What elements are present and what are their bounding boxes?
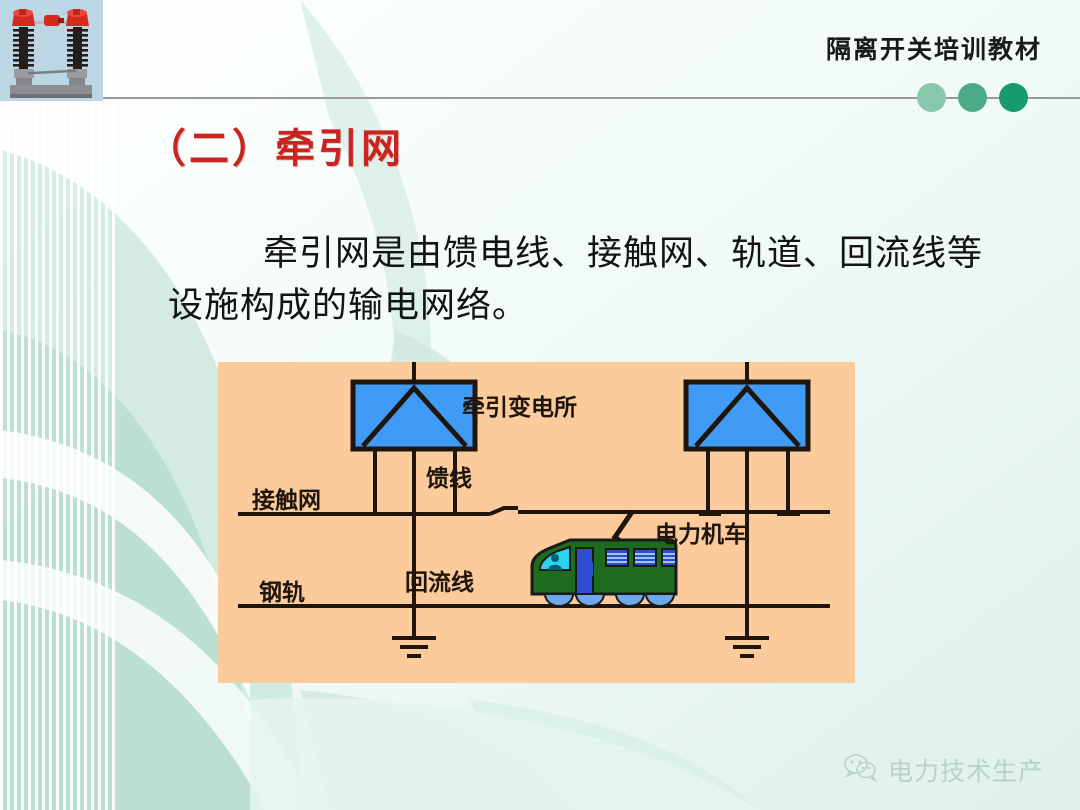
- substation-right: [686, 382, 808, 449]
- label-feeder: 馈线: [426, 465, 472, 491]
- dot-dark: [999, 83, 1028, 112]
- header-dots: [917, 83, 1028, 112]
- substation-left: [353, 382, 475, 449]
- dot-light: [917, 83, 946, 112]
- watermark-text: 电力技术生产: [888, 752, 1044, 788]
- electric-locomotive: [532, 540, 676, 606]
- disconnector-thumbnail: [0, 0, 103, 101]
- wechat-icon: [844, 754, 878, 787]
- label-substation: 牵引变电所: [462, 394, 577, 420]
- label-rail: 钢轨: [259, 579, 305, 605]
- left-stripe-decoration: [0, 100, 118, 810]
- label-return-line: 回流线: [405, 569, 474, 595]
- header-title: 隔离开关培训教材: [826, 30, 1042, 66]
- slide-canvas: 隔离开关培训教材 （二）牵引网 牵引网是由馈电线、接触网、轨道、回流线等设施构成…: [0, 0, 1080, 810]
- watermark: 电力技术生产: [844, 752, 1044, 788]
- traction-network-diagram: 牵引变电所 馈线 接触网 回流线 钢轨 电力机车: [218, 362, 855, 683]
- body-paragraph: 牵引网是由馈电线、接触网、轨道、回流线等设施构成的输电网络。: [168, 228, 988, 332]
- label-catenary: 接触网: [252, 487, 321, 513]
- page-title: （二）牵引网: [146, 116, 404, 174]
- label-locomotive: 电力机车: [655, 521, 747, 547]
- dot-medium: [958, 83, 987, 112]
